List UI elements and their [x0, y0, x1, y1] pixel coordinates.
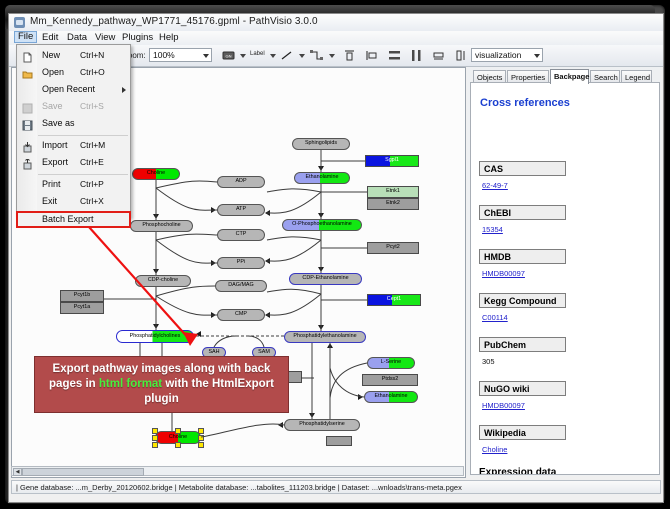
distribute-horizontal-icon[interactable] — [409, 48, 424, 63]
node-o-phosphoethanolamine[interactable]: O-Phosphoethanolamine — [282, 219, 362, 231]
save-as-icon — [22, 118, 33, 129]
menu-item-accel: Ctrl+M — [80, 140, 105, 150]
connector-dropdown-icon[interactable] — [329, 54, 335, 58]
app-title-bar: Mm_Kennedy_pathway_WP1771_45176.gpml - P… — [9, 14, 663, 32]
menu-item-print[interactable]: Print Ctrl+P — [17, 177, 130, 193]
menu-item-accel: Ctrl+O — [80, 67, 105, 77]
menu-item-label: Open — [42, 67, 64, 77]
node-ethanolamine[interactable]: Ethanolamine — [294, 172, 350, 184]
arrowhead — [318, 166, 324, 171]
arrowhead — [196, 331, 201, 337]
node-ptdss2[interactable]: Ptdss2 — [362, 374, 418, 386]
menu-separator-2 — [38, 174, 128, 175]
node-cept1[interactable]: Cept1 — [367, 294, 421, 306]
menu-item-export[interactable]: Export Ctrl+E — [17, 155, 130, 171]
xref-label: CAS — [484, 164, 503, 174]
scrollbar-thumb[interactable] — [22, 468, 144, 476]
arrowhead — [265, 210, 270, 216]
node-etnk2[interactable]: Etnk2 — [367, 198, 419, 210]
callout-text-after: with the HtmlExport plugin — [144, 378, 274, 405]
menu-file[interactable]: File — [14, 31, 37, 43]
backpage-content[interactable]: Cross references CAS 62-49-7 ChEBI 15354… — [470, 82, 660, 475]
xref-source-chebi: ChEBI — [479, 205, 566, 220]
canvas-horizontal-scrollbar[interactable]: ◀ — [11, 466, 464, 476]
node-l-serine[interactable]: L-Serine — [367, 357, 415, 369]
align-top-icon[interactable] — [342, 48, 357, 63]
callout-text-highlight: html format — [99, 378, 162, 390]
menu-item-import[interactable]: Import Ctrl+M — [17, 138, 130, 154]
node-phosphatidylethanolamine[interactable]: Phosphatidylethanolamine — [284, 331, 366, 343]
node-pcyt1a[interactable]: Pcyt1a — [60, 302, 104, 314]
xref-label: HMDB — [484, 252, 511, 262]
side-panel-tabs: Objects Properties Backpage Search Legen… — [470, 69, 660, 83]
menu-item-label: Open Recent — [42, 84, 95, 94]
svg-text:GN: GN — [226, 54, 232, 59]
xref-label: ChEBI — [484, 208, 511, 218]
menu-item-label: Print — [42, 179, 61, 189]
expression-data-title: Expression data — [479, 467, 556, 475]
resize-handle-s[interactable] — [175, 442, 181, 448]
tab-backpage[interactable]: Backpage — [550, 69, 589, 84]
menu-plugins[interactable]: Plugins — [118, 32, 157, 44]
visualization-combo[interactable]: visualization — [471, 48, 543, 62]
pathway-small-box[interactable] — [326, 436, 352, 446]
status-bar-text: | Gene database: ...m_Derby_20120602.bri… — [16, 483, 462, 492]
xref-source-wikipedia: Wikipedia — [479, 425, 566, 440]
app-title-text: Mm_Kennedy_pathway_WP1771_45176.gpml - P… — [30, 16, 318, 27]
menu-item-label: Import — [42, 140, 68, 150]
menu-item-label: Save as — [42, 118, 75, 128]
arrowhead — [318, 213, 324, 218]
node-phosphatidylserine[interactable]: Phosphatidylserine — [284, 419, 360, 431]
menu-item-batch-export[interactable]: Batch Export — [17, 212, 130, 227]
chevron-down-icon — [534, 54, 540, 58]
node-pcyt2[interactable]: Pcyt2 — [367, 242, 419, 254]
xref-source-hmdb: HMDB — [479, 249, 566, 264]
arrowhead — [153, 214, 159, 219]
new-file-icon — [22, 50, 33, 61]
node-dag-mag[interactable]: DAG/MAG — [215, 280, 267, 292]
arrowhead — [278, 422, 283, 428]
menu-item-accel: Ctrl+N — [80, 50, 104, 60]
label-dropdown-icon[interactable] — [270, 54, 276, 58]
node-cmp[interactable]: CMP — [217, 309, 265, 321]
resize-handle-nw[interactable] — [152, 428, 158, 434]
save-icon — [22, 101, 33, 112]
datanode-dropdown-icon[interactable] — [240, 54, 246, 58]
arrowhead — [211, 207, 216, 213]
node-etnk1[interactable]: Etnk1 — [367, 186, 419, 198]
connector-icon[interactable] — [309, 48, 324, 63]
import-icon — [22, 140, 33, 151]
zoom-value: 100% — [153, 50, 175, 60]
xref-value-nugo-wiki[interactable]: HMDB00097 — [482, 401, 525, 410]
pathvisio-window: Mm_Kennedy_pathway_WP1771_45176.gpml - P… — [8, 13, 664, 503]
arrowhead — [153, 269, 159, 274]
xref-source-pubchem: PubChem — [479, 337, 566, 352]
menu-item-label: Batch Export — [42, 214, 94, 224]
menu-item-accel: Ctrl+X — [80, 196, 104, 206]
menu-view[interactable]: View — [91, 32, 119, 44]
node-adp[interactable]: ADP — [217, 176, 265, 188]
side-panel: Objects Properties Backpage Search Legen… — [467, 67, 661, 476]
menu-item-new[interactable]: New Ctrl+N — [17, 48, 130, 64]
datanode-icon[interactable]: GN — [221, 48, 236, 63]
align-left-icon[interactable] — [364, 48, 379, 63]
annotation-callout-text: Export pathway images along with back pa… — [35, 362, 288, 407]
arrowhead — [318, 267, 324, 272]
resize-handle-w[interactable] — [152, 435, 158, 441]
xref-value-pubchem: 305 — [482, 357, 495, 366]
xref-label: Wikipedia — [484, 428, 526, 438]
menu-item-save-as[interactable]: Save as — [17, 116, 130, 132]
same-width-icon[interactable] — [431, 48, 446, 63]
status-bar: | Gene database: ...m_Derby_20120602.bri… — [11, 480, 661, 494]
node-ethanolamine-2[interactable]: Ethanolamine — [364, 391, 418, 403]
node-ppi[interactable]: PPi — [217, 257, 265, 269]
menu-item-accel: Ctrl+S — [80, 101, 104, 111]
node-atp[interactable]: ATP — [217, 204, 265, 216]
visualization-value: visualization — [475, 50, 521, 60]
node-sphingolipids[interactable]: Sphingolipids — [292, 138, 350, 150]
xref-label: Kegg Compound — [484, 296, 557, 306]
node-cdp-choline[interactable]: CDP-choline — [135, 275, 191, 287]
menu-item-label: Save — [42, 101, 63, 111]
screenshot-root: Mm_Kennedy_pathway_WP1771_45176.gpml - P… — [0, 0, 670, 509]
chevron-down-icon — [203, 54, 209, 58]
xref-label: PubChem — [484, 340, 526, 350]
menu-item-open-recent[interactable]: Open Recent — [17, 82, 130, 98]
xref-value-chebi[interactable]: 15354 — [482, 225, 503, 234]
arrowhead — [327, 343, 333, 348]
same-height-icon[interactable] — [452, 48, 467, 63]
pathway-anchor-box[interactable] — [288, 371, 302, 383]
xref-source-cas: CAS — [479, 161, 566, 176]
zoom-combo[interactable]: 100% — [149, 48, 212, 62]
menu-edit[interactable]: Edit — [38, 32, 62, 44]
pathvisio-icon — [14, 17, 25, 28]
xref-source-nugo-wiki: NuGO wiki — [479, 381, 566, 396]
menu-data[interactable]: Data — [63, 32, 91, 44]
xref-value-wikipedia[interactable]: Choline — [482, 445, 507, 454]
annotation-callout: Export pathway images along with back pa… — [34, 356, 289, 413]
node-pcyt1b[interactable]: Pcyt1b — [60, 290, 104, 302]
line-icon[interactable] — [279, 48, 294, 63]
node-sgpl1[interactable]: Sgpl1 — [365, 155, 419, 167]
menu-item-label: Export — [42, 157, 68, 167]
menu-item-exit[interactable]: Exit Ctrl+X — [17, 194, 130, 210]
menu-item-save[interactable]: Save Ctrl+S — [17, 99, 130, 115]
resize-handle-sw[interactable] — [152, 442, 158, 448]
resize-handle-e[interactable] — [198, 435, 204, 441]
xref-label: NuGO wiki — [484, 384, 530, 394]
node-choline[interactable]: Choline — [132, 168, 180, 180]
resize-handle-ne[interactable] — [198, 428, 204, 434]
xref-value-cas[interactable]: 62-49-7 — [482, 181, 508, 190]
submenu-arrow-icon — [122, 87, 126, 93]
export-icon — [22, 157, 33, 168]
label-icon[interactable]: Label — [250, 51, 265, 57]
cross-references-title: Cross references — [480, 97, 570, 109]
menu-item-label: Exit — [42, 196, 57, 206]
resize-handle-n[interactable] — [175, 428, 181, 434]
menu-help[interactable]: Help — [155, 32, 183, 44]
menu-item-accel: Ctrl+P — [80, 179, 104, 189]
arrowhead — [318, 325, 324, 330]
arrowhead — [309, 413, 315, 418]
open-folder-icon — [22, 67, 33, 78]
arrowhead — [358, 394, 363, 400]
xref-source-kegg-compound: Kegg Compound — [479, 293, 566, 308]
arrowhead — [265, 312, 270, 318]
arrowhead — [211, 260, 216, 266]
arrowhead — [265, 258, 270, 264]
arrowhead — [153, 324, 159, 329]
menu-item-accel: Ctrl+E — [80, 157, 104, 167]
distribute-vertical-icon[interactable] — [387, 48, 402, 63]
node-cdp-ethanolamine[interactable]: CDP-Ethanolamine — [289, 273, 362, 285]
node-phosphatidylcholines[interactable]: Phosphatidylcholines — [116, 330, 194, 343]
menu-item-label: New — [42, 50, 60, 60]
resize-handle-se[interactable] — [198, 442, 204, 448]
node-phosphocholine[interactable]: Phosphocholine — [130, 220, 193, 232]
menu-separator-1 — [38, 135, 128, 136]
menu-item-open[interactable]: Open Ctrl+O — [17, 65, 130, 81]
node-ctp[interactable]: CTP — [217, 229, 265, 241]
scroll-left-arrow-icon[interactable]: ◀ — [13, 468, 22, 476]
xref-value-hmdb[interactable]: HMDB00097 — [482, 269, 525, 278]
file-menu-dropdown[interactable]: New Ctrl+N Open Ctrl+O Open Recent Save — [16, 44, 131, 218]
xref-value-kegg-compound[interactable]: C00114 — [482, 313, 508, 322]
arrowhead — [211, 312, 216, 318]
line-dropdown-icon[interactable] — [299, 54, 305, 58]
